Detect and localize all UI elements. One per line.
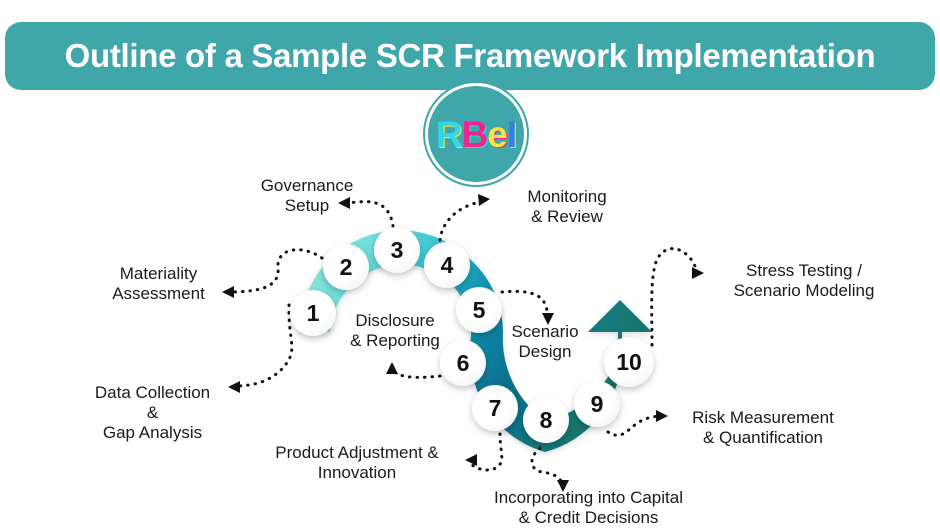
step-circle-7[interactable]: 7 — [472, 385, 518, 431]
label-data-line1: Data Collection — [74, 383, 231, 403]
connector-step7 — [469, 434, 502, 470]
label-monitoring-line1: Monitoring — [487, 187, 647, 207]
step-circle-2[interactable]: 2 — [323, 244, 369, 290]
label-scenario-design: Scenario Design — [495, 322, 595, 363]
label-monitoring-line2: & Review — [487, 207, 647, 227]
label-stress-testing: Stress Testing / Scenario Modeling — [704, 261, 904, 301]
step-circle-3[interactable]: 3 — [374, 227, 420, 273]
infographic-canvas: Outline of a Sample SCR Framework Implem… — [0, 0, 940, 529]
step-circle-1[interactable]: 1 — [290, 290, 336, 336]
label-monitoring-review: Monitoring & Review — [487, 187, 647, 227]
label-stress-line2: Scenario Modeling — [704, 281, 904, 301]
step-circle-9[interactable]: 9 — [574, 381, 620, 427]
label-scenario-line1: Scenario — [495, 322, 595, 342]
label-governance-line2: Setup — [237, 196, 377, 216]
label-incorporating-line1: Incorporating into Capital — [466, 488, 711, 508]
connector-step10 — [652, 249, 700, 345]
label-risk-measurement: Risk Measurement & Quantification — [668, 408, 858, 448]
step-circle-8[interactable]: 8 — [523, 397, 569, 443]
label-governance-setup: Governance Setup — [237, 176, 377, 216]
label-product-line1: Product Adjustment & — [252, 443, 462, 463]
label-data-line2: & — [74, 403, 231, 423]
connector-step5 — [502, 291, 548, 321]
label-risk-line2: & Quantification — [668, 428, 858, 448]
step-circle-10[interactable]: 10 — [604, 337, 654, 387]
arrowhead-step7 — [465, 454, 477, 466]
label-scenario-line2: Design — [495, 342, 595, 362]
connector-step2 — [226, 250, 322, 292]
label-product-line2: Innovation — [252, 463, 462, 483]
arrowhead-step10 — [692, 267, 704, 279]
label-disclosure-line2: & Reporting — [340, 331, 450, 351]
arrowhead-step9 — [656, 410, 668, 422]
label-governance-line1: Governance — [237, 176, 377, 196]
connector-step1 — [228, 305, 292, 387]
label-incorporating-line2: & Credit Decisions — [466, 508, 711, 528]
arrowhead-step6 — [386, 362, 398, 374]
label-data-line3: Gap Analysis — [74, 423, 231, 443]
connector-step4 — [440, 200, 486, 240]
label-materiality-line2: Assessment — [86, 284, 231, 304]
label-data-collection: Data Collection & Gap Analysis — [74, 383, 231, 443]
label-product-adjustment: Product Adjustment & Innovation — [252, 443, 462, 483]
connector-step6 — [392, 366, 440, 377]
label-disclosure-reporting: Disclosure & Reporting — [340, 311, 450, 352]
label-stress-line1: Stress Testing / — [704, 261, 904, 281]
label-materiality-line1: Materiality — [86, 264, 231, 284]
label-materiality-assessment: Materiality Assessment — [86, 264, 231, 304]
step-circle-4[interactable]: 4 — [424, 242, 470, 288]
connector-step9 — [608, 416, 664, 435]
label-disclosure-line1: Disclosure — [340, 311, 450, 331]
label-risk-line1: Risk Measurement — [668, 408, 858, 428]
label-incorporating-capital: Incorporating into Capital & Credit Deci… — [466, 488, 711, 528]
